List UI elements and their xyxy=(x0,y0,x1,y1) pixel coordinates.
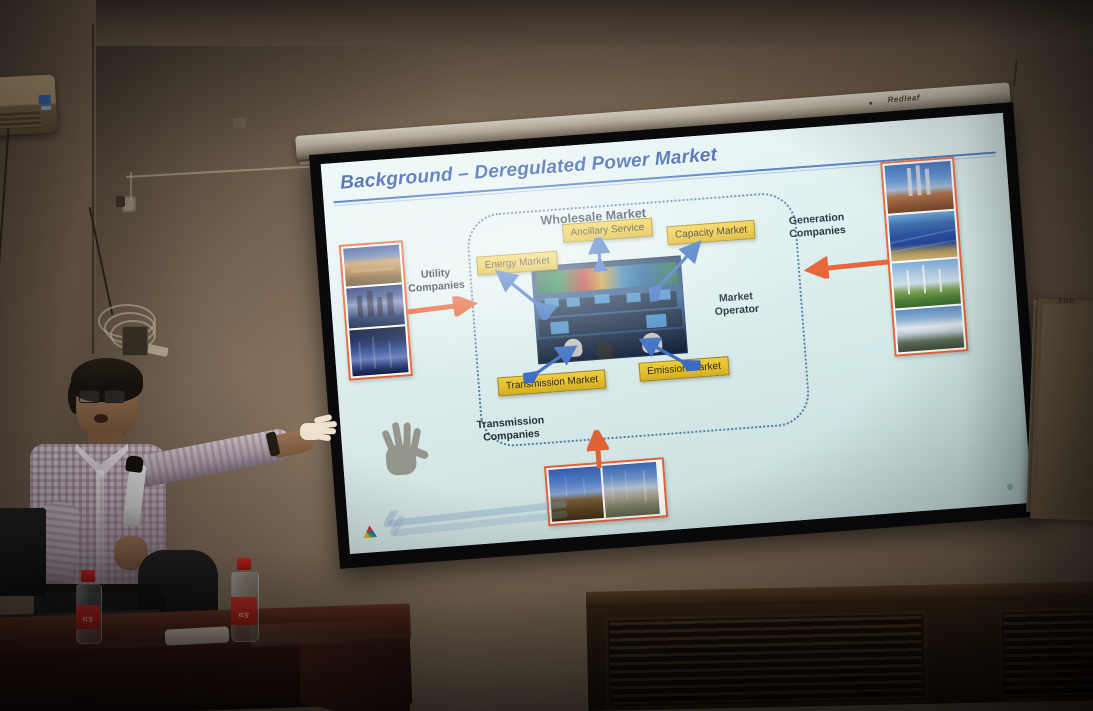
photo-coal-power-plant xyxy=(884,161,953,214)
brand-dot-icon xyxy=(869,102,872,105)
ceiling xyxy=(0,0,1093,46)
generation-photo-group xyxy=(880,157,968,357)
monitor-icon xyxy=(626,293,641,303)
generation-companies-line2: Companies xyxy=(789,224,846,241)
air-conditioner-grille xyxy=(0,111,41,129)
projection-surface: Background – Deregulated Power Market Wh… xyxy=(321,113,1032,554)
monitor-icon xyxy=(550,321,569,334)
monitor-icon xyxy=(594,294,610,304)
air-conditioner xyxy=(0,74,57,135)
slide-footer-decoration xyxy=(373,496,585,546)
arrow-ancillary-to-operator xyxy=(585,237,613,273)
arrow-transmission-to-operator xyxy=(521,345,585,384)
photo-solar-farm xyxy=(888,211,957,262)
presentation-slide: Background – Deregulated Power Market Wh… xyxy=(321,113,1032,554)
eyeglasses-icon xyxy=(79,390,100,403)
monitor-icon xyxy=(646,314,667,328)
monitor-icon xyxy=(566,297,580,307)
eyeglasses-icon xyxy=(104,390,125,403)
presenter-hand-shadow xyxy=(380,415,437,483)
projection-screen[interactable]: Background – Deregulated Power Market Wh… xyxy=(309,102,1044,569)
utility-companies-label: Utility Companies xyxy=(407,266,465,296)
photo-suburban-houses xyxy=(343,245,402,287)
arrow-transmission-co-to-market xyxy=(585,429,610,471)
arrow-generation-to-market xyxy=(799,252,892,281)
photo-city-skyline xyxy=(346,284,405,328)
air-conditioner-badge-stripe xyxy=(41,106,51,111)
whiteboard-brand-label: TOU xyxy=(1058,298,1076,305)
wall-mark xyxy=(233,118,246,128)
arrow-energy-to-operator xyxy=(467,259,561,326)
presentation-logo-icon xyxy=(362,524,378,539)
eyeglasses-bridge xyxy=(98,395,105,397)
photo-substation xyxy=(602,462,660,518)
microphone-head xyxy=(125,455,144,473)
presenter-mouth xyxy=(94,414,108,423)
utility-companies-line2: Companies xyxy=(408,279,465,296)
transmission-companies-label: Transmission Companies xyxy=(476,414,545,445)
lecture-room-scene: Redleaf Background – Deregulated Power M… xyxy=(0,0,1093,711)
air-conditioner-badge xyxy=(39,95,51,105)
utility-photo-group xyxy=(339,240,413,380)
photo-industrial-refinery xyxy=(349,326,408,376)
generation-companies-label: Generation Companies xyxy=(788,211,846,241)
photo-wind-farm xyxy=(892,259,961,309)
slide-smudge xyxy=(1007,483,1014,490)
screen-brand-label: Redleaf xyxy=(887,93,920,104)
arrow-capacity-to-operator xyxy=(646,239,720,302)
photo-hydro-water xyxy=(895,306,964,353)
presenter-hand xyxy=(300,414,338,444)
whiteboard xyxy=(1030,298,1093,521)
arrow-emission-to-operator xyxy=(635,334,702,375)
plug-icon xyxy=(116,196,125,207)
room-bottom-shadow xyxy=(0,551,1093,711)
operator-figure xyxy=(596,342,613,359)
